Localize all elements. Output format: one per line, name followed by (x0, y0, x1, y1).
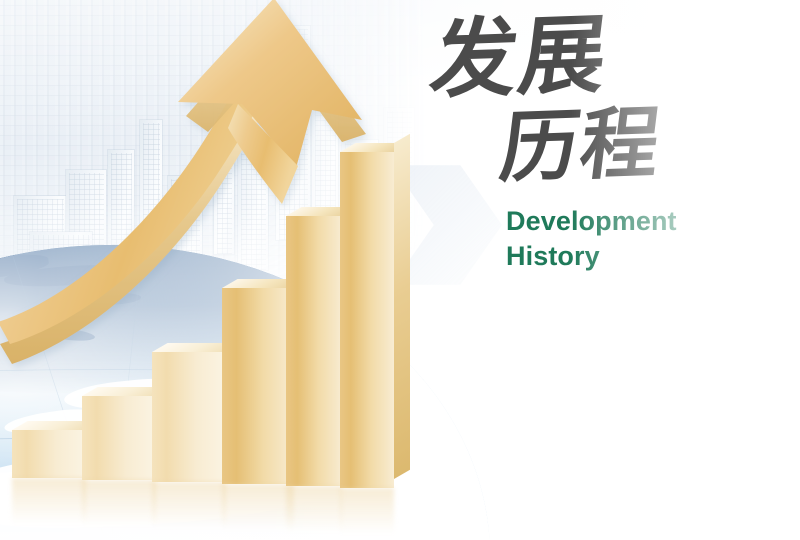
banner-image: 发展 历程 Development History (0, 0, 800, 540)
bar-reflection (222, 484, 294, 530)
bar-5 (286, 216, 342, 486)
bar-6 (340, 152, 394, 488)
title-english-line-2: History (506, 239, 734, 274)
bar-reflection (82, 480, 156, 526)
bar-reflection (286, 486, 342, 532)
bar-front-face (222, 288, 294, 484)
bar-3 (152, 352, 226, 482)
bar-front-face (340, 152, 394, 488)
bar-front-face (82, 396, 156, 480)
title-chinese-line-2: 历程 (496, 102, 745, 188)
bar-reflection (152, 482, 226, 528)
bar-4 (222, 288, 294, 484)
title-chinese-line-1: 发展 (426, 7, 746, 104)
bar-reflection (12, 478, 86, 524)
title-english-line-1: Development (506, 204, 734, 239)
title-english: Development History (506, 204, 734, 273)
bar-reflection (340, 488, 394, 534)
bar-front-face (12, 430, 86, 478)
bar-1 (12, 430, 86, 478)
bar-front-face (286, 216, 342, 486)
bar-front-face (152, 352, 226, 482)
title-block: 发展 历程 Development History (424, 18, 734, 273)
bar-2 (82, 396, 156, 480)
bar-side-face (394, 134, 410, 479)
